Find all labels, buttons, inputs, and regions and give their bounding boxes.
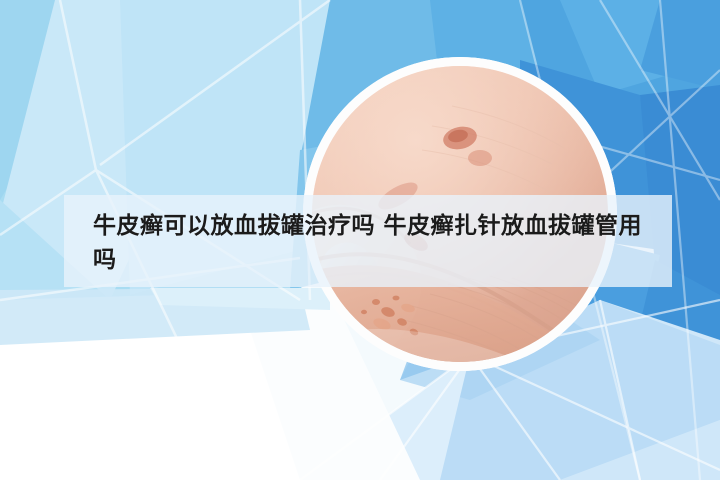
page-title: 牛皮癣可以放血拔罐治疗吗 牛皮癣扎针放血拔罐管用吗 bbox=[93, 209, 653, 277]
title-plate: 牛皮癣可以放血拔罐治疗吗 牛皮癣扎针放血拔罐管用吗 bbox=[64, 195, 672, 287]
banner-canvas: 牛皮癣可以放血拔罐治疗吗 牛皮癣扎针放血拔罐管用吗 bbox=[0, 0, 720, 480]
